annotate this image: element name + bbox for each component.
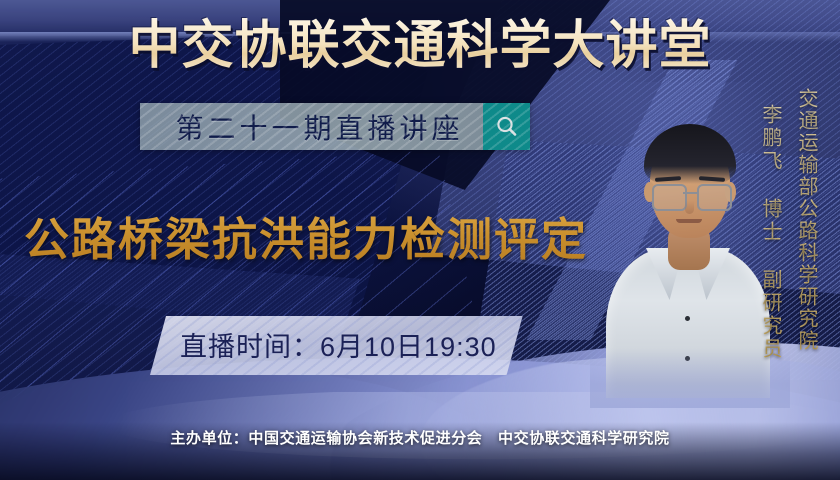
portrait-nose [685, 201, 694, 214]
episode-bar: 第二十一期直播讲座 [140, 103, 530, 150]
live-lecture-poster: 中交协联交通科学大讲堂 第二十一期直播讲座 公路桥梁抗洪能力检测评定 直播时间：… [0, 0, 840, 480]
portrait-glasses-left-lens [652, 184, 687, 211]
speaker-organization: 交通运输部公路科学研究院 [792, 88, 821, 352]
portrait-shirt-button [685, 316, 690, 321]
live-time-badge: 直播时间：6月10日19:30 [150, 316, 523, 375]
lecture-topic-title: 公路桥梁抗洪能力检测评定 [24, 203, 588, 268]
search-icon [494, 114, 520, 140]
portrait-glasses-bridge [683, 192, 697, 194]
portrait-shirt-button [685, 356, 690, 361]
organizer-footer: 主办单位：中国交通运输协会新技术促进分会 中交协联交通科学研究院 [0, 427, 840, 448]
episode-label: 第二十一期直播讲座 [140, 107, 483, 147]
page-title: 中交协联交通科学大讲堂 [0, 16, 840, 77]
portrait-glasses-right-lens [697, 184, 732, 211]
speaker-portrait [600, 98, 775, 378]
portrait-mouth [676, 219, 702, 223]
search-button[interactable] [483, 103, 530, 150]
live-time-text: 直播时间：6月10日19:30 [180, 325, 497, 364]
speaker-name-title: 李鹏飞 博士 副研究员 [756, 104, 785, 361]
portrait-shirt [606, 248, 770, 398]
